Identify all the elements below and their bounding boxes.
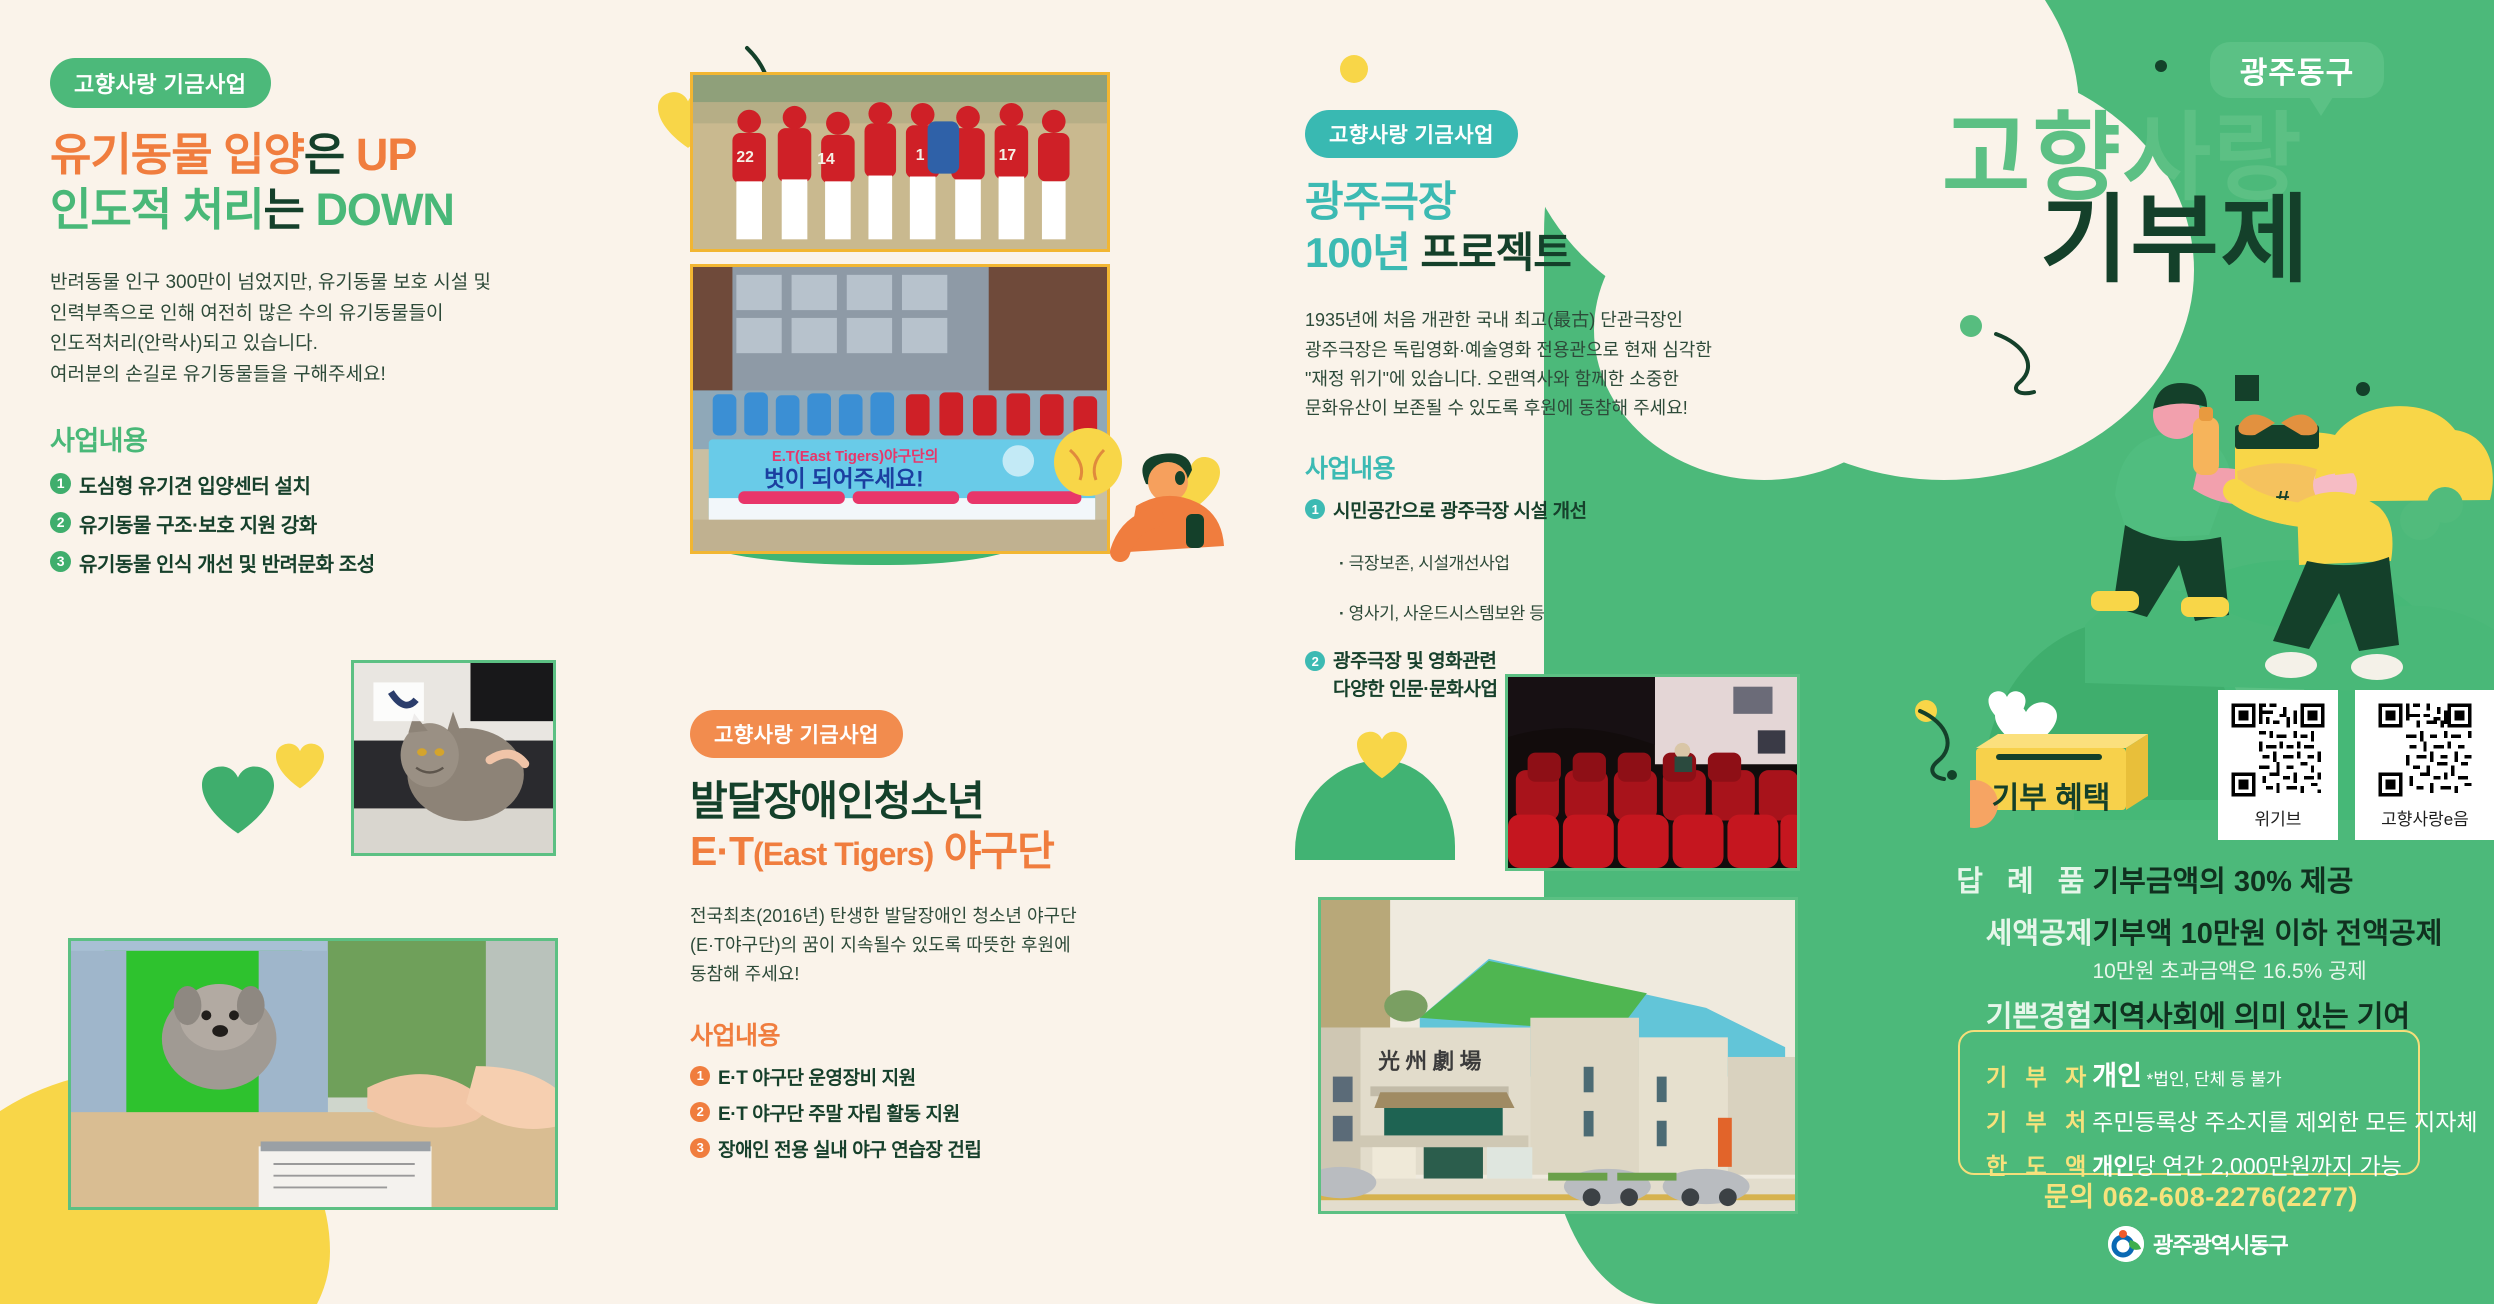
rule-value: 개인 *법인, 단체 등 불가 xyxy=(2092,1054,2477,1093)
benefit-value-post: 제공 xyxy=(2292,866,2353,898)
gov-name: 광주광역시동구 xyxy=(2153,1228,2288,1260)
headline-baseball-line2: E·T(East Tigers) 야구단 xyxy=(690,826,1250,876)
bullet-number-icon: 2 xyxy=(690,1102,710,1122)
dark-dot-3 xyxy=(2155,60,2167,72)
headline-animals-l2b: 는 xyxy=(264,184,304,235)
list-title-animals: 사업내용 xyxy=(50,419,610,458)
sub-bullet-text: 극장보존, 시설개선사업 xyxy=(1339,554,1510,573)
yellow-dot-1 xyxy=(1340,55,1368,83)
photo-baseball-banner: E.T(East Tigers)야구단의 벗이 되어주세요! xyxy=(690,264,1110,554)
svg-text:벗이 되어주세요!: 벗이 되어주세요! xyxy=(764,466,924,491)
sub-bullet-text: 영사기, 사운드시스템보완 등 xyxy=(1339,604,1544,623)
benefit-key: 세액공제 xyxy=(1944,900,2092,985)
brand-title-line2: 기부제 xyxy=(2040,162,2311,301)
sub-bullet-2: 영사기, 사운드시스템보완 등 xyxy=(1339,579,1825,624)
bullet-number-icon: 2 xyxy=(1305,651,1325,671)
pill-theater: 고향사랑 기금사업 xyxy=(1305,110,1518,158)
bullet-list-baseball: 1 E·T 야구단 운영장비 지원 2 E·T 야구단 주말 자립 활동 지원 … xyxy=(690,1063,1250,1162)
benefit-key: 답 례 품 xyxy=(1944,858,2092,900)
list-item: 1 E·T 야구단 운영장비 지원 xyxy=(690,1063,1250,1090)
bullet-list-animals: 1 도심형 유기견 입양센터 설치 2 유기동물 구조·보호 지원 강화 3 유… xyxy=(50,470,610,577)
headline-baseball-line1: 발달장애인청소년 xyxy=(690,776,1250,826)
svg-text:22: 22 xyxy=(736,149,754,166)
bullet-number-icon: 1 xyxy=(50,473,71,494)
sub-bullet-1: 극장보존, 시설개선사업 xyxy=(1339,529,1825,574)
bullet-number-icon: 3 xyxy=(50,551,71,572)
donation-box-illustration xyxy=(1970,700,2150,840)
svg-text:E.T(East Tigers)야구단의: E.T(East Tigers)야구단의 xyxy=(772,447,938,465)
bullet-list-theater: 1 시민공간으로 광주극장 시설 개선 극장보존, 시설개선사업 영사기, 사운… xyxy=(1305,496,1825,703)
qr-caption-wegive: 위기브 xyxy=(2255,805,2302,830)
rule-key: 기 부 자 xyxy=(1986,1054,2092,1093)
benefit-value-post: 이하 전액공제 xyxy=(2266,918,2442,950)
headline-animals-line2: 인도적 처리는 DOWN xyxy=(50,183,610,238)
pill-baseball: 고향사랑 기금사업 xyxy=(690,710,903,758)
headline-animals-l1c: UP xyxy=(356,129,417,180)
rules-table: 기 부 자 개인 *법인, 단체 등 불가 기 부 처 주민등록상 주소지를 제… xyxy=(1986,1054,2478,1181)
rule-strong: 개인 xyxy=(2092,1061,2142,1091)
headline-baseball-l2c: 야구단 xyxy=(944,828,1054,874)
bullet-text: 장애인 전용 실내 야구 연습장 건립 xyxy=(718,1135,982,1162)
benefit-value: 기부액 10만원 이하 전액공제 10만원 초과금액은 16.5% 공제 xyxy=(2092,900,2474,985)
headline-baseball-l2a: E·T xyxy=(690,828,753,874)
list-item: 1 시민공간으로 광주극장 시설 개선 xyxy=(1305,496,1825,523)
benefit-value: 지역사회에 의미 있는 기여 xyxy=(2092,985,2474,1035)
benefit-value: 기부금액의 30% 제공 xyxy=(2092,858,2474,900)
yellow-dot-2 xyxy=(1915,700,1937,722)
rule-row: 기 부 처 주민등록상 주소지를 제외한 모든 지자체 xyxy=(1986,1093,2478,1137)
benefit-row: 답 례 품 기부금액의 30% 제공 xyxy=(1944,858,2474,900)
headline-animals-l2c: DOWN xyxy=(315,184,453,235)
gov-logo: 광주광역시동구 xyxy=(2108,1226,2288,1262)
rule-key: 기 부 처 xyxy=(1986,1093,2092,1137)
headline-animals-l2a: 인도적 처리 xyxy=(50,184,264,235)
rules-box: 기 부 자 개인 *법인, 단체 등 불가 기 부 처 주민등록상 주소지를 제… xyxy=(1958,1030,2420,1175)
headline-theater-line2: 100년 프로젝트 xyxy=(1305,227,1825,278)
photo-theater-building: 光 州 劇 場 xyxy=(1318,897,1798,1214)
benefit-key: 기쁜경험 xyxy=(1944,985,2092,1035)
bullet-text: E·T 야구단 운영장비 지원 xyxy=(718,1063,916,1090)
pill-animals: 고향사랑 기금사업 xyxy=(50,58,271,108)
benefit-note: 10만원 초과금액은 16.5% 공제 xyxy=(2092,955,2474,985)
photo-baseball-huddle: 2214 117 xyxy=(690,72,1110,252)
donation-box-label: 기부 혜택 xyxy=(1976,772,2126,818)
bullet-text: 광주극장 및 영화관련 다양한 인문·문화사업 xyxy=(1333,648,1498,703)
benefit-value-pre: 기부액 xyxy=(2092,918,2180,950)
list-item: 3 유기동물 인식 개선 및 반려문화 조성 xyxy=(50,548,610,577)
dark-dot-2 xyxy=(1947,770,1957,780)
bullet-text: E·T 야구단 주말 자립 활동 지원 xyxy=(718,1099,960,1126)
benefit-value-pre: 기부금액의 xyxy=(2092,866,2233,898)
list-item: 2 유기동물 구조·보호 지원 강화 xyxy=(50,509,610,538)
benefits-table: 답 례 품 기부금액의 30% 제공 세액공제 기부액 10만원 이하 전액공제… xyxy=(1944,858,2474,1035)
rule-row: 기 부 자 개인 *법인, 단체 등 불가 xyxy=(1986,1054,2478,1093)
qr-card-wegive[interactable]: 위기브 xyxy=(2218,690,2338,840)
list-item: 1 도심형 유기견 입양센터 설치 xyxy=(50,470,610,499)
svg-text:17: 17 xyxy=(999,147,1017,164)
benefit-value-strong: 30% xyxy=(2234,866,2292,898)
headline-animals-l1a: 유기동물 입양 xyxy=(50,129,304,180)
rule-rest: *법인, 단체 등 불가 xyxy=(2142,1070,2282,1089)
headline-animals-line1: 유기동물 입양은 UP xyxy=(50,128,610,183)
benefit-row: 기쁜경험 지역사회에 의미 있는 기여 xyxy=(1944,985,2474,1035)
headline-theater-line1: 광주극장 xyxy=(1305,176,1825,227)
svg-text:光 州 劇 場: 光 州 劇 場 xyxy=(1377,1050,1481,1074)
list-title-theater: 사업내용 xyxy=(1305,449,1825,485)
baseball-player-illustration xyxy=(1050,420,1250,600)
photo-dog-adoption xyxy=(68,938,558,1210)
bullet-number-icon: 2 xyxy=(50,512,71,533)
heart-icon-green-left xyxy=(198,764,278,836)
headline-theater-l2b: 프로젝트 xyxy=(1420,229,1571,276)
qr-code-wegive-icon xyxy=(2228,700,2328,800)
bullet-text: 유기동물 구조·보호 지원 강화 xyxy=(79,509,317,538)
bullet-text: 시민공간으로 광주극장 시설 개선 xyxy=(1333,496,1587,523)
benefit-value-pre: 지역사회에 의미 있는 기여 xyxy=(2092,1001,2410,1033)
rule-rest: 주민등록상 주소지를 제외한 모든 지자체 xyxy=(2092,1109,2477,1135)
body-animals: 반려동물 인구 300만이 넘었지만, 유기동물 보호 시설 및 인력부족으로 … xyxy=(50,268,610,391)
list-item: 2 E·T 야구단 주말 자립 활동 지원 xyxy=(690,1099,1250,1126)
green-dot-1 xyxy=(1960,315,1982,337)
qr-card-gohyang[interactable]: 고향사랑e음 xyxy=(2355,690,2494,840)
qr-code-gohyang-icon xyxy=(2375,700,2475,800)
gov-emblem-icon xyxy=(2108,1226,2144,1262)
svg-text:14: 14 xyxy=(817,151,835,168)
headline-baseball-l2b: (East Tigers) xyxy=(753,836,933,872)
section-animals: 고향사랑 기금사업 유기동물 입양은 UP 인도적 처리는 DOWN 반려동물 … xyxy=(50,58,610,577)
bullet-number-icon: 1 xyxy=(1305,499,1325,519)
photo-cinema-seats xyxy=(1505,674,1800,871)
svg-text:1: 1 xyxy=(916,147,925,164)
poster-root: 고향사랑 기금사업 유기동물 입양은 UP 인도적 처리는 DOWN 반려동물 … xyxy=(0,0,2494,1304)
section-theater: 고향사랑 기금사업 광주극장 100년 프로젝트 1935년에 처음 개관한 국… xyxy=(1305,110,1825,703)
heart-icon-yellow-theater xyxy=(1355,730,1409,780)
people-donating-illustration: # xyxy=(2085,375,2494,695)
bullet-number-icon: 1 xyxy=(690,1066,710,1086)
bullet-text: 유기동물 인식 개선 및 반려문화 조성 xyxy=(79,548,375,577)
list-title-baseball: 사업내용 xyxy=(690,1016,1250,1052)
qr-caption-gohyang: 고향사랑e음 xyxy=(2381,805,2469,830)
bullet-number-icon: 3 xyxy=(690,1138,710,1158)
bullet-text: 도심형 유기견 입양센터 설치 xyxy=(79,470,310,499)
benefit-row: 세액공제 기부액 10만원 이하 전액공제 10만원 초과금액은 16.5% 공… xyxy=(1944,900,2474,985)
body-theater: 1935년에 처음 개관한 국내 최고(最古) 단관극장인 광주극장은 독립영화… xyxy=(1305,306,1825,423)
list-item: 3 장애인 전용 실내 야구 연습장 건립 xyxy=(690,1135,1250,1162)
photo-cat xyxy=(351,660,556,856)
headline-animals-l1b: 은 xyxy=(304,129,344,180)
benefit-value-strong: 10만원 xyxy=(2181,918,2267,950)
heart-icon-yellow-left xyxy=(274,742,326,790)
body-baseball: 전국최초(2016년) 탄생한 발달장애인 청소년 야구단 (E·T야구단)의 … xyxy=(690,902,1250,989)
contact-phone[interactable]: 문의 062-608-2276(2277) xyxy=(2044,1175,2358,1214)
headline-theater-l2a: 100년 xyxy=(1305,229,1410,276)
section-baseball: 고향사랑 기금사업 발달장애인청소년 E·T(East Tigers) 야구단 … xyxy=(690,710,1250,1162)
rule-value: 주민등록상 주소지를 제외한 모든 지자체 xyxy=(2092,1093,2477,1137)
